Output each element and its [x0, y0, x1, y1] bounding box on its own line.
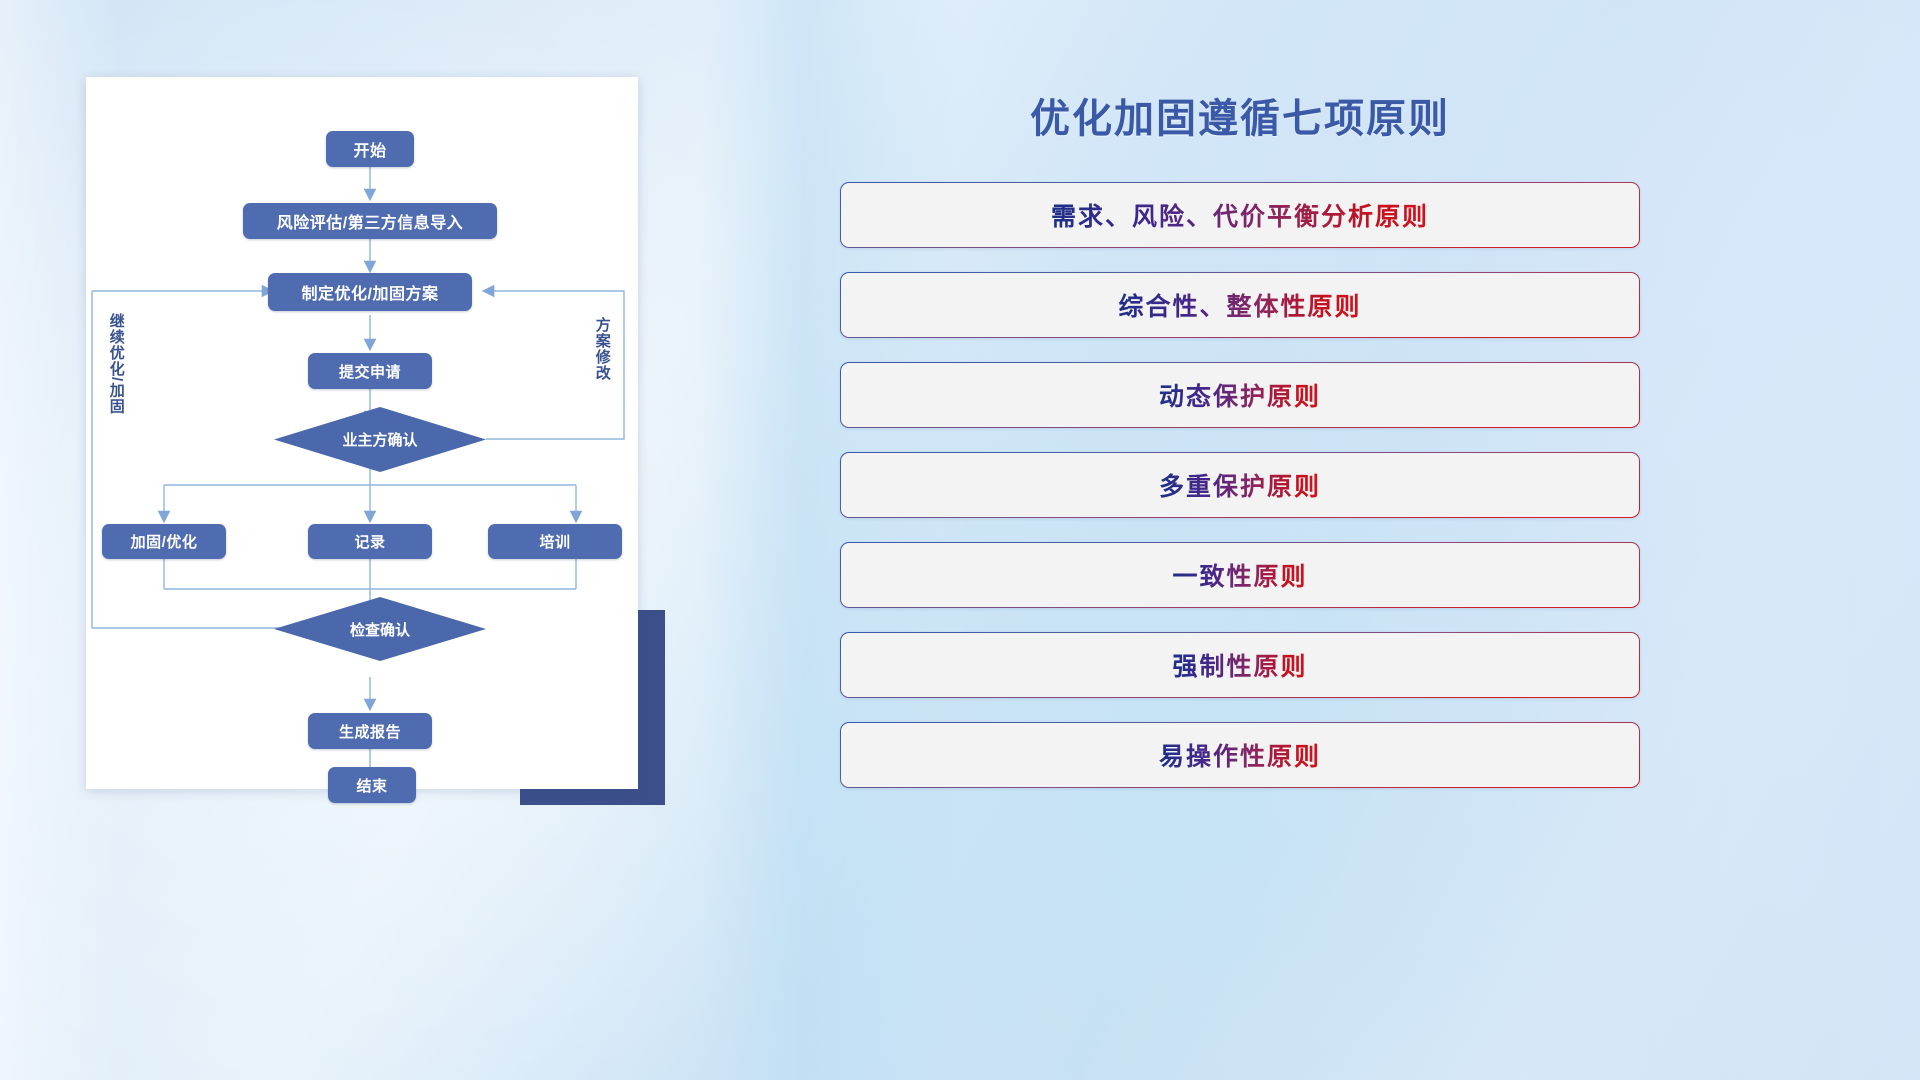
principle-card[interactable]: 多重保护原则 — [840, 452, 1640, 518]
flow-edge-label-left-loop: 继续优化/加固 — [108, 313, 124, 414]
flow-decision-owner-confirm-label: 业主方确认 — [342, 429, 417, 450]
principle-label: 综合性、整体性原则 — [1118, 287, 1361, 323]
principle-card[interactable]: 一致性原则 — [840, 542, 1640, 608]
principle-label: 多重保护原则 — [1159, 467, 1321, 503]
principle-label: 动态保护原则 — [1159, 377, 1321, 413]
flow-node-end-label: 结束 — [356, 775, 387, 796]
principle-card[interactable]: 易操作性原则 — [840, 722, 1640, 788]
flow-decision-check-confirm-label: 检查确认 — [350, 619, 410, 640]
flow-node-training-label: 培训 — [539, 531, 570, 552]
flow-node-submit-label: 提交申请 — [339, 361, 401, 382]
flow-node-training[interactable]: 培训 — [488, 524, 622, 559]
principle-label: 一致性原则 — [1172, 557, 1307, 593]
principles-title: 优化加固遵循七项原则 — [840, 86, 1640, 144]
background-streak-right — [1680, 0, 1920, 1080]
principle-card[interactable]: 强制性原则 — [840, 632, 1640, 698]
flowchart-canvas: 开始 风险评估/第三方信息导入 制定优化/加固方案 提交申请 业主方确认 加固/… — [86, 77, 638, 789]
principle-label: 易操作性原则 — [1159, 737, 1321, 773]
flow-node-submit[interactable]: 提交申请 — [308, 353, 432, 389]
flow-node-start-label: 开始 — [353, 137, 386, 161]
flow-node-reinforce-label: 加固/优化 — [131, 531, 198, 552]
flow-node-reinforce[interactable]: 加固/优化 — [102, 524, 226, 559]
principle-label: 强制性原则 — [1172, 647, 1307, 683]
flow-node-risk-assessment[interactable]: 风险评估/第三方信息导入 — [243, 203, 497, 239]
flow-node-generate-report-label: 生成报告 — [339, 721, 401, 742]
principles-panel: 优化加固遵循七项原则 需求、风险、代价平衡分析原则 综合性、整体性原则 动态保护… — [840, 86, 1640, 1016]
flow-node-plan-label: 制定优化/加固方案 — [302, 280, 439, 304]
principle-card[interactable]: 需求、风险、代价平衡分析原则 — [840, 182, 1640, 248]
flow-edge-label-right-loop: 方案修改 — [594, 317, 610, 381]
flow-node-record[interactable]: 记录 — [308, 524, 432, 559]
flow-node-risk-assessment-label: 风险评估/第三方信息导入 — [277, 209, 463, 233]
principle-card[interactable]: 综合性、整体性原则 — [840, 272, 1640, 338]
principle-label: 需求、风险、代价平衡分析原则 — [1051, 197, 1429, 233]
flowchart-card: 开始 风险评估/第三方信息导入 制定优化/加固方案 提交申请 业主方确认 加固/… — [86, 77, 638, 789]
flow-node-generate-report[interactable]: 生成报告 — [308, 713, 432, 749]
flow-node-record-label: 记录 — [354, 531, 385, 552]
flow-node-end[interactable]: 结束 — [328, 767, 416, 803]
flow-node-start[interactable]: 开始 — [326, 131, 414, 167]
principle-card[interactable]: 动态保护原则 — [840, 362, 1640, 428]
flow-node-plan[interactable]: 制定优化/加固方案 — [268, 273, 472, 311]
